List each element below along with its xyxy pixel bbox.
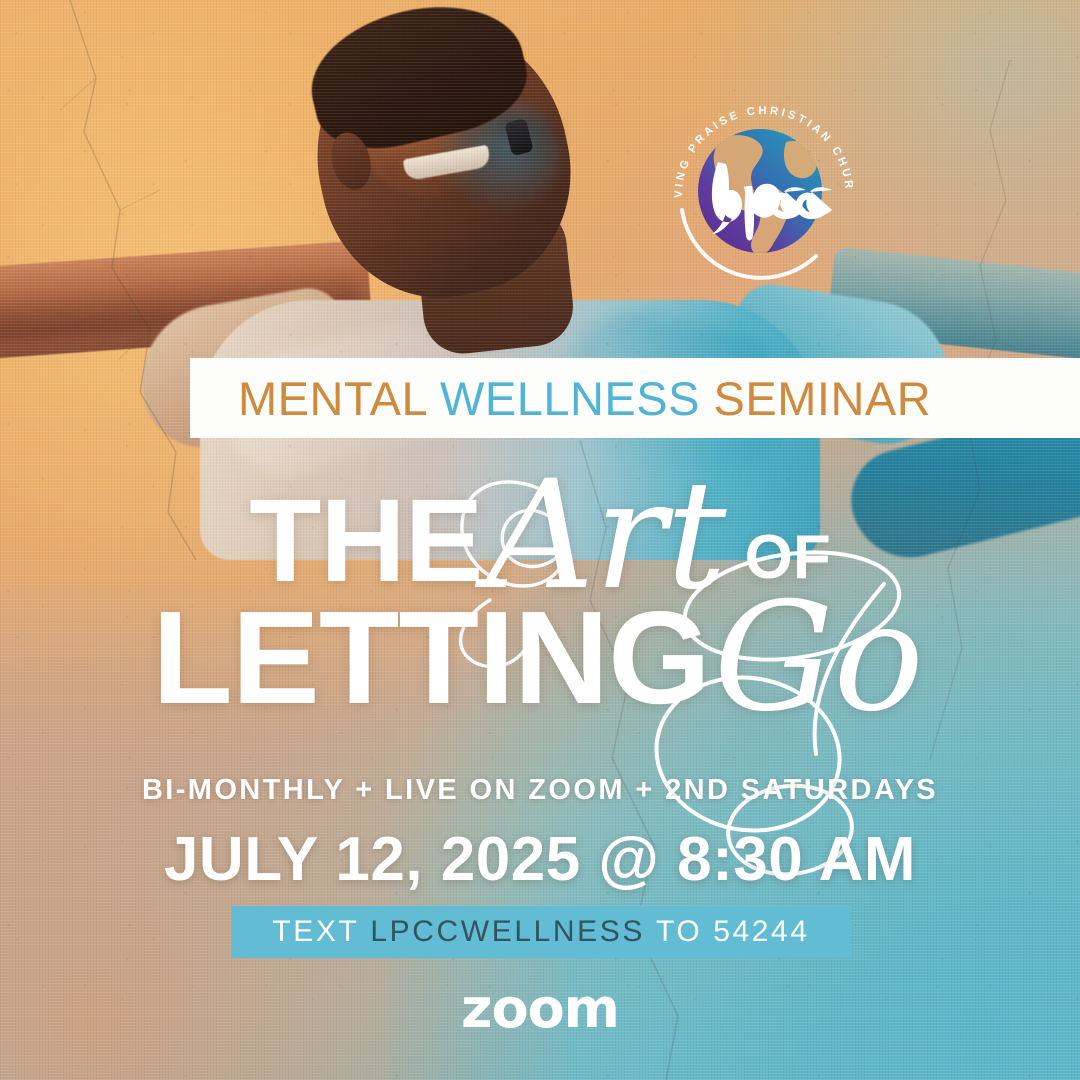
text-to-join-band[interactable]: TEXT LPCCWELLNESS TO 54244 xyxy=(232,906,850,958)
headline-letting: LETTING xyxy=(152,597,710,718)
text-shortcode: 54244 xyxy=(713,915,809,949)
headline: THE Art OF LETTING Go xyxy=(0,478,1080,738)
headline-go-script: Go xyxy=(714,598,924,718)
schedule-line: BI-MONTHLY + LIVE ON ZOOM + 2ND SATURDAY… xyxy=(0,774,1080,807)
seminar-title: MENTAL WELLNESS SEMINAR xyxy=(238,371,931,426)
datetime-line: JULY 12, 2025 @ 8:30 AM xyxy=(0,824,1080,895)
seminar-word-seminar: SEMINAR xyxy=(714,372,932,425)
lpcc-logo-svg: LIVING PRAISE CHRISTIAN CHURCH xyxy=(660,88,860,288)
headline-line-2: LETTING Go xyxy=(0,578,1080,718)
seminar-title-band: MENTAL WELLNESS SEMINAR xyxy=(190,358,1080,438)
lpcc-logo[interactable]: LIVING PRAISE CHRISTIAN CHURCH xyxy=(660,88,860,288)
seminar-word-wellness: WELLNESS xyxy=(440,372,700,425)
text-keyword: LPCCWELLNESS xyxy=(370,915,645,949)
text-prefix: TEXT xyxy=(272,915,359,949)
zoom-wordmark[interactable]: zoom xyxy=(0,982,1080,1036)
event-flyer: LIVING PRAISE CHRISTIAN CHURCH MENTAL WE… xyxy=(0,0,1080,1080)
seminar-word-mental: MENTAL xyxy=(238,372,426,425)
text-middle: TO xyxy=(656,915,702,949)
